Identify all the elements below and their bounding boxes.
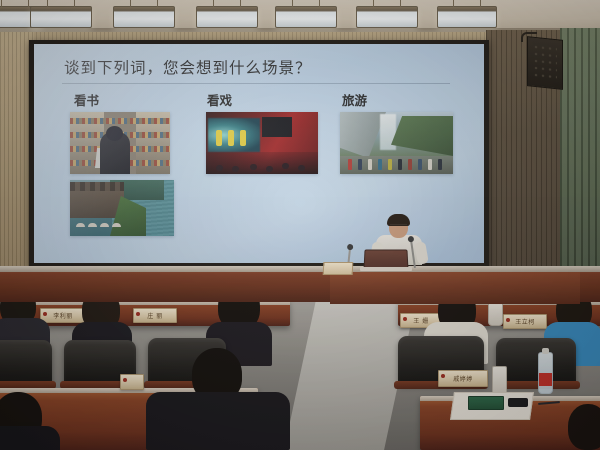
chair-back-1 (0, 340, 52, 384)
slide-divider (62, 83, 450, 84)
ceiling-light-3 (113, 6, 175, 28)
ceiling-light-5 (275, 6, 337, 28)
presenter-laptop-base (360, 267, 412, 271)
audience-nameplate-5: 戚婷婷 (438, 370, 488, 387)
ceiling-light-6 (356, 6, 418, 28)
slide-photo-waterfall (340, 112, 453, 174)
slide-category-label-1: 看书 (74, 90, 99, 109)
ceiling-light-7 (437, 6, 497, 28)
chair-back-5 (496, 338, 576, 384)
slide-photo-resort (70, 180, 174, 236)
podium-front-panel (330, 272, 580, 304)
slide-photo-theater (206, 112, 318, 174)
audience-nameplate-5-text: 戚婷婷 (453, 374, 473, 383)
audience-head-8 (568, 404, 600, 450)
audience-nameplate-4-text: 王立柯 (515, 317, 535, 326)
water-bottle (538, 352, 553, 394)
audience-torso-6 (146, 392, 290, 450)
lecture-hall-photo: 谈到下列词，您会想到什么场景？ 看书 看戏 旅游 (0, 0, 600, 450)
audience-nameplate-3-text: 王 姗 (413, 316, 428, 325)
slide-category-label-3: 旅游 (342, 90, 367, 109)
smartphone (508, 398, 528, 407)
audience-nameplate-6 (120, 374, 144, 390)
presenter-nameplate (323, 262, 354, 275)
slide-photo-library (70, 112, 170, 174)
green-notebook (468, 396, 504, 410)
ceiling-light-2 (30, 6, 92, 28)
audience-nameplate-1: 李利丽 (40, 308, 86, 323)
ceiling-light-4 (196, 6, 258, 28)
audience-torso-7 (0, 426, 60, 450)
loudspeaker-icon (527, 36, 563, 90)
audience-nameplate-4: 王立柯 (503, 314, 547, 329)
slide-category-label-2: 看戏 (207, 90, 232, 109)
audience-nameplate-1-text: 李利丽 (53, 311, 73, 320)
slide-title: 谈到下列词，您会想到什么场景？ (64, 56, 312, 78)
audience-nameplate-2-text: 庄 丽 (147, 311, 162, 320)
audience-nameplate-2: 庄 丽 (133, 308, 177, 323)
window-curtain (560, 28, 600, 286)
